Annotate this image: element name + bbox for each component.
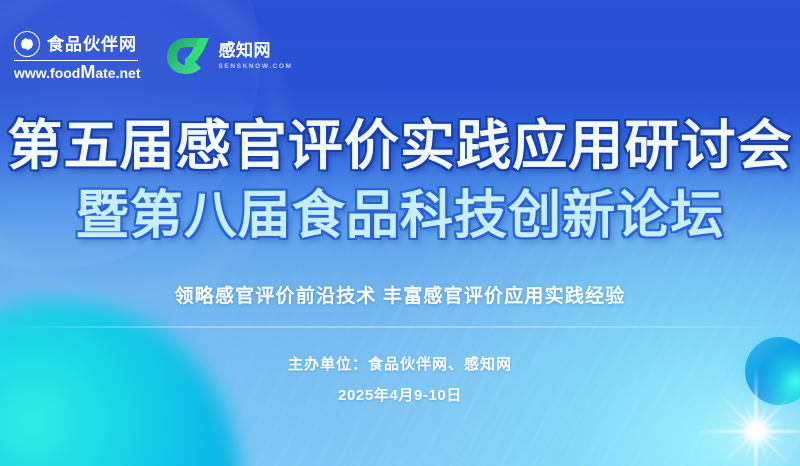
foodmate-url-prefix: www.food [14, 65, 80, 81]
sensknow-chinese-name: 感知网 [218, 42, 271, 59]
foodmate-logo[interactable]: 食品伙伴网 www.foodMate.net [14, 31, 140, 81]
light-starburst-icon [690, 365, 800, 466]
flower-emblem-icon [14, 31, 40, 57]
foodmate-url-suffix: ate.net [95, 65, 140, 81]
starburst-ray [744, 402, 769, 460]
sensknow-english-name: SENSKNOW.COM [218, 64, 292, 71]
starburst-ray [727, 419, 785, 444]
horizontal-divider [0, 326, 800, 328]
foodmate-chinese-name: 食品伙伴网 [47, 36, 137, 53]
gz-monogram-icon [166, 36, 210, 76]
foodmate-url-mid: M [80, 62, 95, 82]
starburst-core [739, 414, 773, 448]
starburst-ray [721, 396, 791, 466]
poster-tagline: 领略感官评价前沿技术 丰富感官评价应用实践经验 [0, 281, 800, 308]
starburst-ray [744, 402, 769, 460]
logo-bar: 食品伙伴网 www.foodMate.net [14, 31, 293, 81]
title-line-1: 第五届感官评价实践应用研讨会 [0, 118, 800, 175]
title-line-2: 暨第八届食品科技创新论坛 [0, 189, 800, 244]
foodmate-url: www.foodMate.net [14, 63, 140, 81]
starburst-ray [727, 419, 785, 444]
starburst-ray [692, 430, 800, 433]
sensknow-logo[interactable]: 感知网 SENSKNOW.COM [166, 36, 292, 76]
event-date: 2025年4月9-10日 [0, 384, 800, 405]
organizer-line: 主办单位：食品伙伴网、感知网 [0, 353, 800, 374]
sensknow-text: 感知网 SENSKNOW.COM [218, 42, 292, 71]
starburst-ray [721, 396, 791, 466]
foodmate-logo-top: 食品伙伴网 [14, 31, 137, 57]
conference-poster: 食品伙伴网 www.foodMate.net [0, 0, 800, 466]
poster-title: 第五届感官评价实践应用研讨会 暨第八届食品科技创新论坛 [0, 118, 800, 243]
foodmate-rule [14, 60, 138, 61]
starburst-ray [755, 367, 758, 466]
